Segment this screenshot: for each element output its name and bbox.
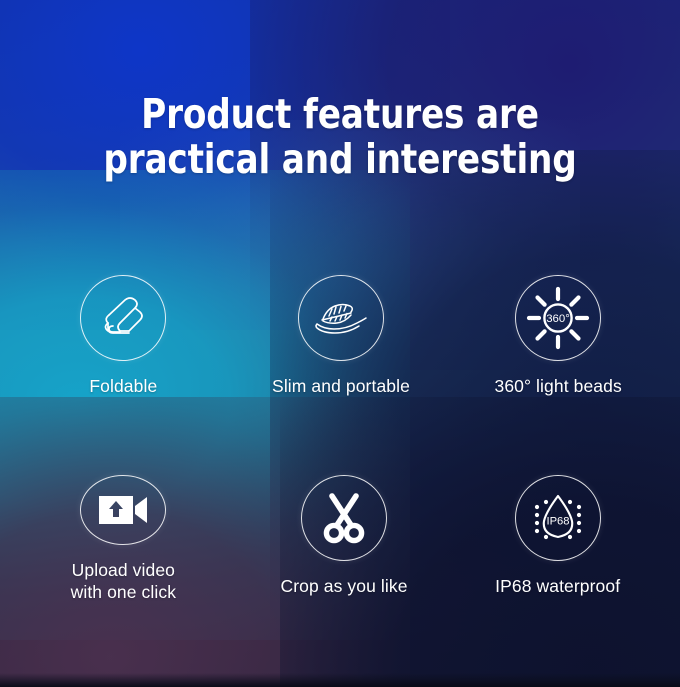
- feature-label-foldable: Foldable: [89, 375, 157, 397]
- feature-item-foldable: Foldable: [14, 275, 233, 403]
- feature-label-crop: Crop as you like: [280, 575, 407, 597]
- headline-line-1: Product features are: [24, 92, 656, 137]
- icon-circle-ip68-waterproof: IP68: [515, 475, 601, 561]
- product-features-banner: Product features are practical and inter…: [0, 0, 680, 687]
- feature-label-light-beads-360: 360° light beads: [495, 375, 622, 397]
- feature-grid: Foldable: [18, 275, 662, 603]
- icon-circle-foldable: [80, 275, 166, 361]
- icon-circle-slim-portable: [298, 275, 384, 361]
- icon-circle-crop: [301, 475, 387, 561]
- feature-item-ip68-waterproof: IP68: [453, 475, 662, 603]
- video-camera-upload-icon: [97, 491, 149, 529]
- feature-label-upload-video: Upload video with one click: [71, 559, 176, 603]
- icon-circle-upload-video: [80, 475, 166, 545]
- sun-icon-label: 360°: [546, 313, 570, 325]
- feature-item-light-beads-360: 360° 360° light beads: [454, 275, 662, 403]
- feather-on-hand-icon: [313, 298, 369, 338]
- feature-item-upload-video: Upload video with one click: [14, 475, 233, 603]
- icon-circle-light-beads-360: 360°: [515, 275, 601, 361]
- feature-item-crop: Crop as you like: [241, 475, 448, 603]
- headline-line-2: practical and interesting: [24, 137, 656, 182]
- feature-label-ip68-waterproof: IP68 waterproof: [495, 575, 620, 597]
- water-droplet-icon: IP68: [527, 490, 589, 546]
- folded-blanket-icon: [96, 293, 150, 343]
- droplet-icon-label: IP68: [546, 516, 569, 528]
- feature-item-slim-portable: Slim and portable: [235, 275, 448, 403]
- banner-headline: Product features are practical and inter…: [0, 92, 680, 182]
- feature-label-slim-portable: Slim and portable: [272, 375, 410, 397]
- sun-brightness-icon: 360°: [526, 286, 590, 350]
- scissors-icon: [320, 492, 368, 544]
